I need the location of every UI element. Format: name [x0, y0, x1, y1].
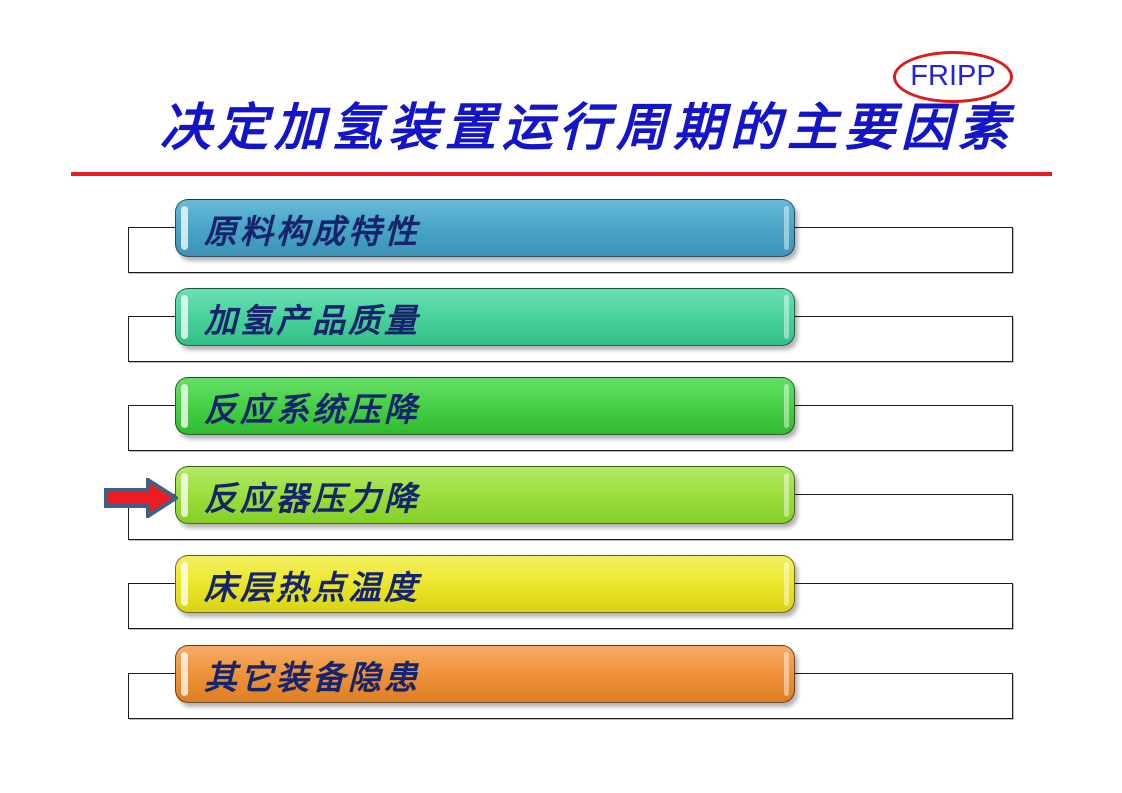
factor-row: 其它装备隐患 [0, 645, 1122, 731]
factor-row: 反应系统压降 [0, 377, 1122, 463]
factor-row: 原料构成特性 [0, 199, 1122, 285]
page-title: 决定加氢装置运行周期的主要因素 [160, 95, 990, 163]
factor-bar[interactable]: 反应器压力降 [175, 466, 795, 524]
factor-row: 加氢产品质量 [0, 288, 1122, 374]
factor-label: 原料构成特性 [204, 200, 420, 257]
factor-label: 床层热点温度 [204, 556, 420, 613]
factor-bar[interactable]: 原料构成特性 [175, 199, 795, 257]
factor-row: 床层热点温度 [0, 555, 1122, 641]
factor-bar[interactable]: 其它装备隐患 [175, 645, 795, 703]
factor-label: 反应器压力降 [204, 467, 420, 524]
title-underline-rule [71, 172, 1052, 176]
factor-label: 反应系统压降 [204, 378, 420, 435]
slide-canvas: FRIPP 决定加氢装置运行周期的主要因素 原料构成特性加氢产品质量反应系统压降… [0, 0, 1122, 793]
factor-label: 其它装备隐患 [204, 646, 420, 703]
factor-label: 加氢产品质量 [204, 289, 420, 346]
red-arrow-icon [104, 478, 178, 518]
factor-bar[interactable]: 加氢产品质量 [175, 288, 795, 346]
factor-bar[interactable]: 反应系统压降 [175, 377, 795, 435]
factor-bar[interactable]: 床层热点温度 [175, 555, 795, 613]
